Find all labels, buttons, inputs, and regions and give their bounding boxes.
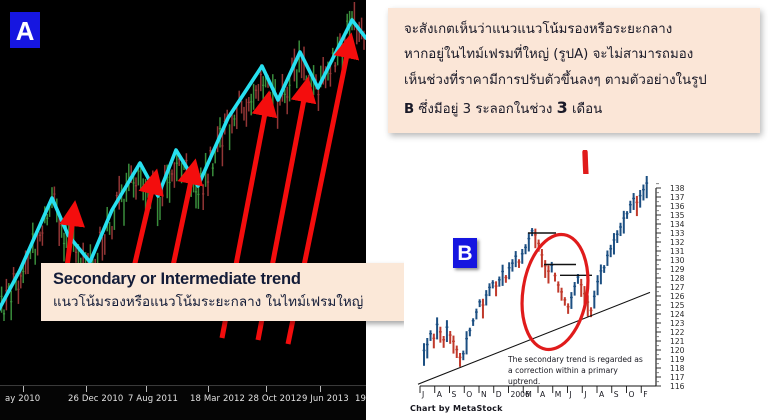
chart-a-callout-box: Secondary or Intermediate trend แนวโน้มร… <box>41 263 405 321</box>
note-line-2: หากอยู่ในไทม์เฟรมที่ใหญ่ (รูปA) จะไม่สาม… <box>404 45 746 64</box>
chart-a-axis-label: 28 Oct 2012 <box>248 394 302 404</box>
chart-b-x-axis-label: J <box>422 390 424 399</box>
chart-b-x-axis-label: A <box>437 390 442 399</box>
chart-b-x-axis-label: A <box>599 390 604 399</box>
chart-b-y-axis-label: 129 <box>670 265 685 274</box>
chart-a-plot-area <box>0 0 366 385</box>
note-line-2-text: หากอยู่ในไทม์เฟรมที่ใหญ่ (รูปA) จะไม่สาม… <box>404 47 693 62</box>
chart-b-y-axis-label: 124 <box>670 310 685 319</box>
chart-b-y-axis-label: 117 <box>670 373 685 382</box>
chart-b-x-axis-label: S <box>452 390 457 399</box>
chart-b-x-axis-label: J <box>584 390 586 399</box>
note-ref-b: B <box>404 102 414 117</box>
chart-a-axis-tick <box>266 386 267 392</box>
chart-a-axis-label: 18 Mar 2012 <box>190 394 245 404</box>
note-line-4-suffix: เดือน <box>568 102 602 117</box>
chart-b-y-axis-label: 128 <box>670 274 685 283</box>
chart-b-y-axis-label: 127 <box>670 283 685 292</box>
callout-title: Secondary or Intermediate trend <box>53 270 395 289</box>
chart-b-y-axis-label: 125 <box>670 301 685 310</box>
chart-b-y-axis-label: 136 <box>670 202 685 211</box>
chart-b-x-axis-label: F <box>643 390 647 399</box>
chart-b-badge: B <box>453 238 477 268</box>
chart-b-y-axis-label: 116 <box>670 382 685 391</box>
chart-b-y-axis-label: 137 <box>670 193 685 202</box>
chart-b-credit-label: Chart by MetaStock <box>410 404 503 413</box>
chart-b-y-axis-label: 120 <box>670 346 685 355</box>
chart-a-axis-tick <box>208 386 209 392</box>
chart-b-y-axis-label: 121 <box>670 337 685 346</box>
chart-b-y-axis-label: 134 <box>670 220 685 229</box>
chart-b-x-axis-label: J <box>570 390 572 399</box>
chart-b-y-axis-label: 122 <box>670 328 685 337</box>
chart-b-x-axis-label: A <box>540 390 545 399</box>
chart-b-x-axis-label: M <box>525 390 532 399</box>
explanation-note-box: จะสังเกตเห็นว่าแนวแนวโน้มรองหรือระยะกลาง… <box>388 8 760 133</box>
chart-b-x-axis-label: M <box>555 390 562 399</box>
chart-b-annotation-text: The secondary trend is regarded as a cor… <box>508 355 648 387</box>
chart-b-x-axis-label: O <box>466 390 472 399</box>
chart-b-panel: The secondary trend is regarded as a cor… <box>404 174 768 420</box>
note-month-count: 3 <box>557 98 568 117</box>
chart-b-y-axis-label: 138 <box>670 184 685 193</box>
chart-a-axis-label: 9 Jun 2013 <box>302 394 349 404</box>
chart-b-y-axis-label: 126 <box>670 292 685 301</box>
chart-a-axis-label: 7 Aug 2011 <box>128 394 178 404</box>
callout-subtitle: แนวโน้มรองหรือแนวโน้มระยะกลาง ในไทม์เฟรม… <box>53 290 395 312</box>
chart-a-svg <box>0 0 366 385</box>
chart-a-date-axis: ay 201026 Dec 20107 Aug 201118 Mar 20122… <box>0 385 366 420</box>
infographic-root: ay 201026 Dec 20107 Aug 201118 Mar 20122… <box>0 0 768 420</box>
chart-a-axis-tick <box>146 386 147 392</box>
chart-a-panel: ay 201026 Dec 20107 Aug 201118 Mar 20122… <box>0 0 366 420</box>
chart-b-y-axis-label: 130 <box>670 256 685 265</box>
chart-a-axis-tick <box>86 386 87 392</box>
chart-a-badge: A <box>10 12 40 48</box>
note-line-3: เห็นช่วงที่ราคามีการปรับตัวขึ้นลงๆ ตามตั… <box>404 71 746 90</box>
chart-a-axis-label: 19 Jan 2014 <box>355 394 366 404</box>
chart-b-x-axis-label: D <box>496 390 502 399</box>
chart-b-y-axis-label: 131 <box>670 247 685 256</box>
chart-b-y-axis-label: 132 <box>670 238 685 247</box>
chart-b-y-axis-label: 133 <box>670 229 685 238</box>
chart-b-y-axis-label: 118 <box>670 364 685 373</box>
chart-a-axis-label: 26 Dec 2010 <box>68 394 123 404</box>
note-line-4: B ซึ่งมีอยู่ 3 ระลอกในช่วง 3 เดือน <box>404 96 746 119</box>
chart-b-y-axis-label: 119 <box>670 355 685 364</box>
note-line-1: จะสังเกตเห็นว่าแนวแนวโน้มรองหรือระยะกลาง <box>404 20 746 39</box>
note-line-4-mid: ซึ่งมีอยู่ 3 ระลอกในช่วง <box>414 102 556 117</box>
chart-b-x-axis-label: N <box>481 390 487 399</box>
chart-a-axis-label: ay 2010 <box>5 394 40 404</box>
chart-a-axis-tick <box>320 386 321 392</box>
chart-b-y-axis-label: 123 <box>670 319 685 328</box>
chart-b-y-axis-label: 135 <box>670 211 685 220</box>
chart-a-axis-tick <box>23 386 24 392</box>
chart-b-x-axis-label: O <box>629 390 635 399</box>
chart-b-x-axis-label: S <box>614 390 619 399</box>
